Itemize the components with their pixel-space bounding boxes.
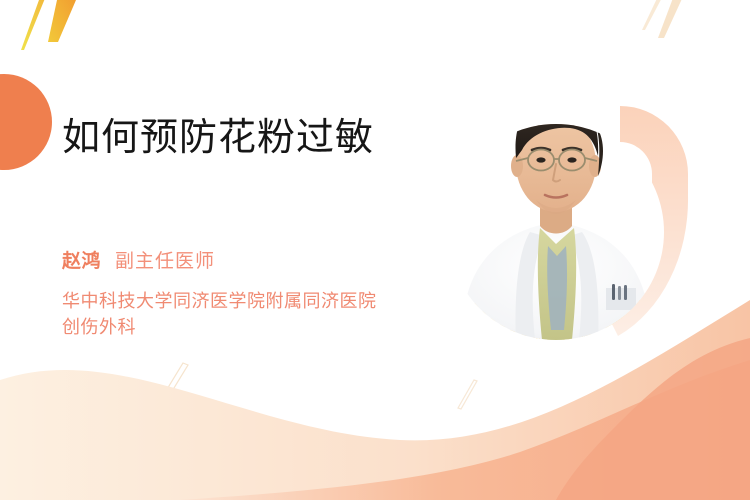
text-layer: 如何预防花粉过敏 赵鸿副主任医师 华中科技大学同济医学院附属同济医院 创伤外科 xyxy=(0,0,750,500)
doctor-topic-card: 如何预防花粉过敏 赵鸿副主任医师 华中科技大学同济医学院附属同济医院 创伤外科 xyxy=(0,0,750,500)
doctor-identity: 赵鸿副主任医师 xyxy=(62,250,215,274)
doctor-rank: 副主任医师 xyxy=(115,251,215,272)
doctor-affiliation: 华中科技大学同济医学院附属同济医院 创伤外科 xyxy=(62,288,377,340)
doctor-name: 赵鸿 xyxy=(62,251,101,272)
page-title: 如何预防花粉过敏 xyxy=(62,116,374,162)
